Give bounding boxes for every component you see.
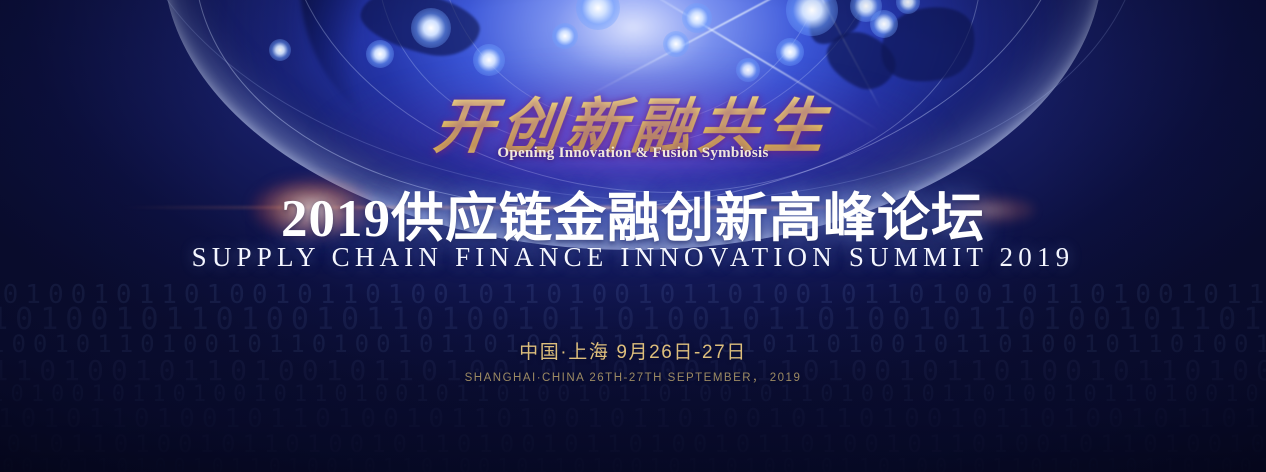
globe-node-glow xyxy=(896,0,920,14)
globe-node-glow xyxy=(552,23,578,49)
conference-banner: 1010010110100101101001011010010110100101… xyxy=(0,0,1266,472)
globe-node-glow xyxy=(411,8,451,48)
globe-node-glow xyxy=(269,39,291,61)
binary-row: 1010010110100101101001011010010110100101… xyxy=(0,280,1266,310)
globe-node-glow xyxy=(366,40,394,68)
binary-row: 0110010110100101101001011010010110100101… xyxy=(0,454,1266,472)
main-title-en: SUPPLY CHAIN FINANCE INNOVATION SUMMIT 2… xyxy=(0,242,1266,273)
globe-node-glow xyxy=(576,0,620,30)
globe-node-glow xyxy=(682,3,712,33)
binary-row: 1010110100101101001011010010110100101101… xyxy=(0,430,1266,458)
binary-row: 0110100101101001011010010110100101101001… xyxy=(0,302,1266,337)
binary-row: 0011010110100101101001011010010110100101… xyxy=(0,404,1266,434)
continent-silhouette xyxy=(355,0,484,64)
main-title-cn: 2019供应链金融创新高峰论坛 xyxy=(0,176,1266,252)
globe-node-glow xyxy=(776,38,804,66)
date-location-cn: 中国·上海 9月26日-27日 xyxy=(0,337,1266,364)
continent-silhouette xyxy=(800,0,870,54)
globe-node-glow xyxy=(850,0,882,22)
globe-node-glow xyxy=(870,10,898,38)
globe-node-glow xyxy=(473,44,505,76)
globe-node-glow xyxy=(663,31,689,57)
date-location-en: SHANGHAI·CHINA 26TH-27TH SEPTEMBER， 2019 xyxy=(0,369,1266,385)
calligraphy-subtitle: Opening Innovation & Fusion Symbiosis xyxy=(0,145,1266,162)
binary-row: 1101001011010010110100101101001011010010… xyxy=(0,382,1266,407)
globe-node-glow xyxy=(786,0,838,36)
